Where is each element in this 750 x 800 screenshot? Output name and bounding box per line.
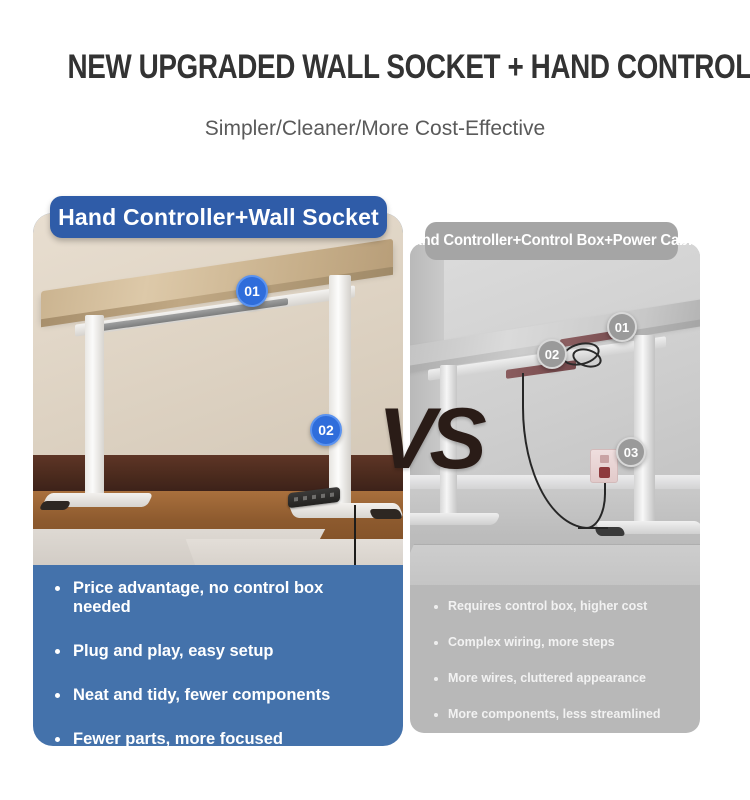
right-panel-badge: Hand Controller+Control Box+Power Cable xyxy=(425,222,678,260)
page-title: NEW UPGRADED WALL SOCKET + HAND CONTROLL… xyxy=(68,48,683,87)
left-comparison-card: Price advantage, no control box needed P… xyxy=(33,213,403,746)
list-item: Price advantage, no control box needed xyxy=(55,579,385,617)
bullet-dot-icon xyxy=(434,605,438,609)
power-outlet-icon xyxy=(590,449,618,483)
left-panel-badge: Hand Controller+Wall Socket xyxy=(50,196,387,238)
list-item: More components, less streamlined xyxy=(434,707,686,721)
desk-leg-right xyxy=(329,275,351,507)
rug xyxy=(410,544,700,585)
marker-right-01: 01 xyxy=(607,312,637,342)
bullet-dot-icon xyxy=(434,677,438,681)
foot-pad-right xyxy=(369,509,403,519)
list-item-label: Plug and play, easy setup xyxy=(73,642,274,661)
marker-right-02: 02 xyxy=(537,339,567,369)
bullet-dot-icon xyxy=(434,713,438,717)
list-item-label: More wires, cluttered appearance xyxy=(448,671,646,685)
rug-right xyxy=(186,539,403,565)
desk-foot-left xyxy=(410,513,501,525)
list-item-label: More components, less streamlined xyxy=(448,707,661,721)
bullet-dot-icon xyxy=(55,649,60,654)
list-item: Neat and tidy, fewer components xyxy=(55,686,385,705)
list-item: Plug and play, easy setup xyxy=(55,642,385,661)
foot-pad-left xyxy=(39,501,71,510)
page-subtitle: Simpler/Cleaner/More Cost-Effective xyxy=(0,117,750,141)
list-item-label: Fewer parts, more focused xyxy=(73,730,283,746)
vs-label: VS xyxy=(378,396,481,482)
bullet-dot-icon xyxy=(55,693,60,698)
desk-leg-right xyxy=(634,335,655,523)
list-item-label: Neat and tidy, fewer components xyxy=(73,686,330,705)
list-item: Complex wiring, more steps xyxy=(434,635,686,649)
list-item-label: Requires control box, higher cost xyxy=(448,599,647,613)
list-item-label: Complex wiring, more steps xyxy=(448,635,615,649)
marker-left-02: 02 xyxy=(310,414,342,446)
list-item: Requires control box, higher cost xyxy=(434,599,686,613)
bullet-dot-icon xyxy=(55,737,60,742)
marker-left-01: 01 xyxy=(236,275,268,307)
right-comparison-card: Requires control box, higher cost Comple… xyxy=(410,243,700,733)
left-benefit-list: Price advantage, no control box needed P… xyxy=(33,565,403,746)
power-cable-upper xyxy=(314,505,356,565)
list-item-label: Price advantage, no control box needed xyxy=(73,579,385,617)
bullet-dot-icon xyxy=(55,586,60,591)
promo-page: NEW UPGRADED WALL SOCKET + HAND CONTROLL… xyxy=(0,0,750,800)
right-drawback-list: Requires control box, higher cost Comple… xyxy=(410,585,700,733)
desk-leg-left xyxy=(85,315,104,497)
left-product-photo xyxy=(33,213,403,565)
bullet-dot-icon xyxy=(434,641,438,645)
list-item: More wires, cluttered appearance xyxy=(434,671,686,685)
list-item: Fewer parts, more focused xyxy=(55,730,385,746)
marker-right-03: 03 xyxy=(616,437,646,467)
